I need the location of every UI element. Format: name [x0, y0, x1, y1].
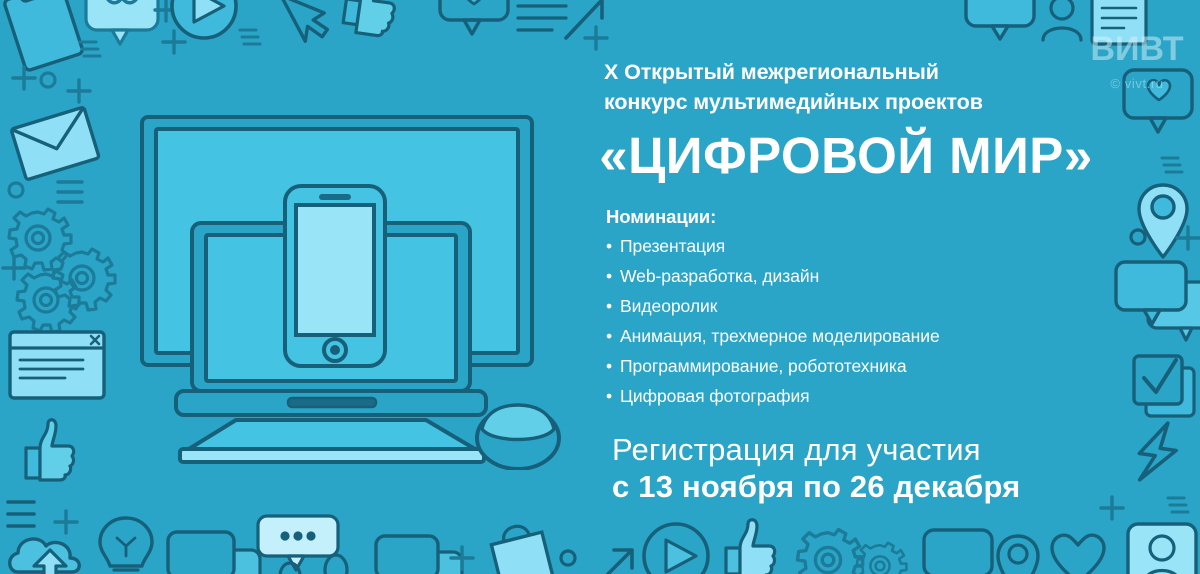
lightbulb-icon: [280, 563, 300, 574]
user-avatar-icon: [1128, 524, 1196, 574]
device-illustration: [130, 95, 580, 470]
chat-bubble-icon: [86, 0, 158, 44]
event-subtitle: X Открытый межрегиональный конкурс мульт…: [604, 58, 1104, 117]
nomination-label: Анимация, трехмерное моделирование: [620, 326, 940, 346]
smartphone: [285, 186, 385, 366]
event-title: «ЦИФРОВОЙ МИР»: [566, 126, 1126, 185]
computer-mouse: [477, 405, 559, 469]
registration-block: Регистрация для участия с 13 ноября по 2…: [612, 432, 1112, 505]
circle-icon: [1131, 230, 1145, 244]
bullet-icon: •: [606, 238, 620, 256]
circle-icon: [561, 551, 575, 565]
bullet-icon: •: [606, 358, 620, 376]
cursor-arrow-icon: [281, 0, 334, 45]
nomination-label: Цифровая фотография: [620, 386, 810, 406]
lightbulb-icon: [325, 555, 347, 574]
list-lines-icon: [58, 182, 82, 202]
nomination-label: Программирование, робототехника: [620, 356, 907, 376]
nominations-label: Номинации:: [606, 206, 716, 228]
document-icon: [518, 0, 566, 30]
nomination-label: Видеоролик: [620, 296, 717, 316]
promo-banner: X Открытый межрегиональный конкурс мульт…: [0, 0, 1200, 574]
chat-bubble-icon: [1116, 262, 1200, 340]
list-item: •Видеоролик: [606, 298, 1106, 328]
speed-lines-icon: [240, 30, 260, 44]
lightbulb-icon: [100, 518, 152, 574]
registration-dates: с 13 ноября по 26 декабря: [612, 469, 1112, 506]
nominations-list: •Презентация •Web-разработка, дизайн •Ви…: [606, 238, 1106, 418]
bullet-icon: •: [606, 298, 620, 316]
list-item: •Цифровая фотография: [606, 388, 1106, 418]
list-item: •Web-разработка, дизайн: [606, 268, 1106, 298]
nomination-label: Web-разработка, дизайн: [620, 266, 819, 286]
clipboard-icon: [1, 0, 83, 71]
plus-icon: [68, 80, 90, 102]
chat-bubble-icon: [376, 536, 462, 574]
plus-icon: [55, 511, 77, 533]
thumbs-up-icon: [26, 420, 74, 480]
circle-icon: [41, 73, 55, 87]
browser-window-icon: [10, 332, 104, 398]
registration-label: Регистрация для участия: [612, 432, 1112, 469]
bullet-icon: •: [606, 388, 620, 406]
circle-icon: [9, 183, 23, 197]
plus-icon: [3, 257, 25, 279]
location-pin-icon: [1139, 185, 1187, 257]
cloud-upload-icon: [10, 539, 80, 574]
play-button-icon: [172, 0, 236, 38]
chat-bubble-icon: [1124, 70, 1192, 132]
speed-lines-icon: [1168, 498, 1188, 512]
lightning-bolt-icon: [1136, 420, 1180, 484]
bullet-icon: •: [606, 268, 620, 286]
envelope-icon: [11, 107, 99, 180]
list-item: •Программирование, робототехника: [606, 358, 1106, 388]
nomination-label: Презентация: [620, 236, 725, 256]
speed-lines-icon: [1162, 158, 1182, 172]
event-subtitle-line1: X Открытый межрегиональный: [604, 58, 1104, 88]
thumbs-up-icon: [342, 0, 399, 37]
shopping-bag-icon: [488, 520, 553, 574]
chat-bubble-icon: [440, 0, 508, 34]
checkmark-icon: [1134, 356, 1194, 416]
list-item: •Анимация, трехмерное моделирование: [606, 328, 1106, 358]
chat-bubble-icon: [168, 532, 260, 574]
content-column: X Открытый межрегиональный конкурс мульт…: [598, 0, 1118, 574]
event-subtitle-line2: конкурс мультимедийных проектов: [604, 88, 1104, 118]
plus-icon: [163, 31, 185, 53]
list-lines-icon: [8, 502, 34, 526]
speed-lines-icon: [80, 42, 100, 56]
list-item: •Презентация: [606, 238, 1106, 268]
bullet-icon: •: [606, 328, 620, 346]
